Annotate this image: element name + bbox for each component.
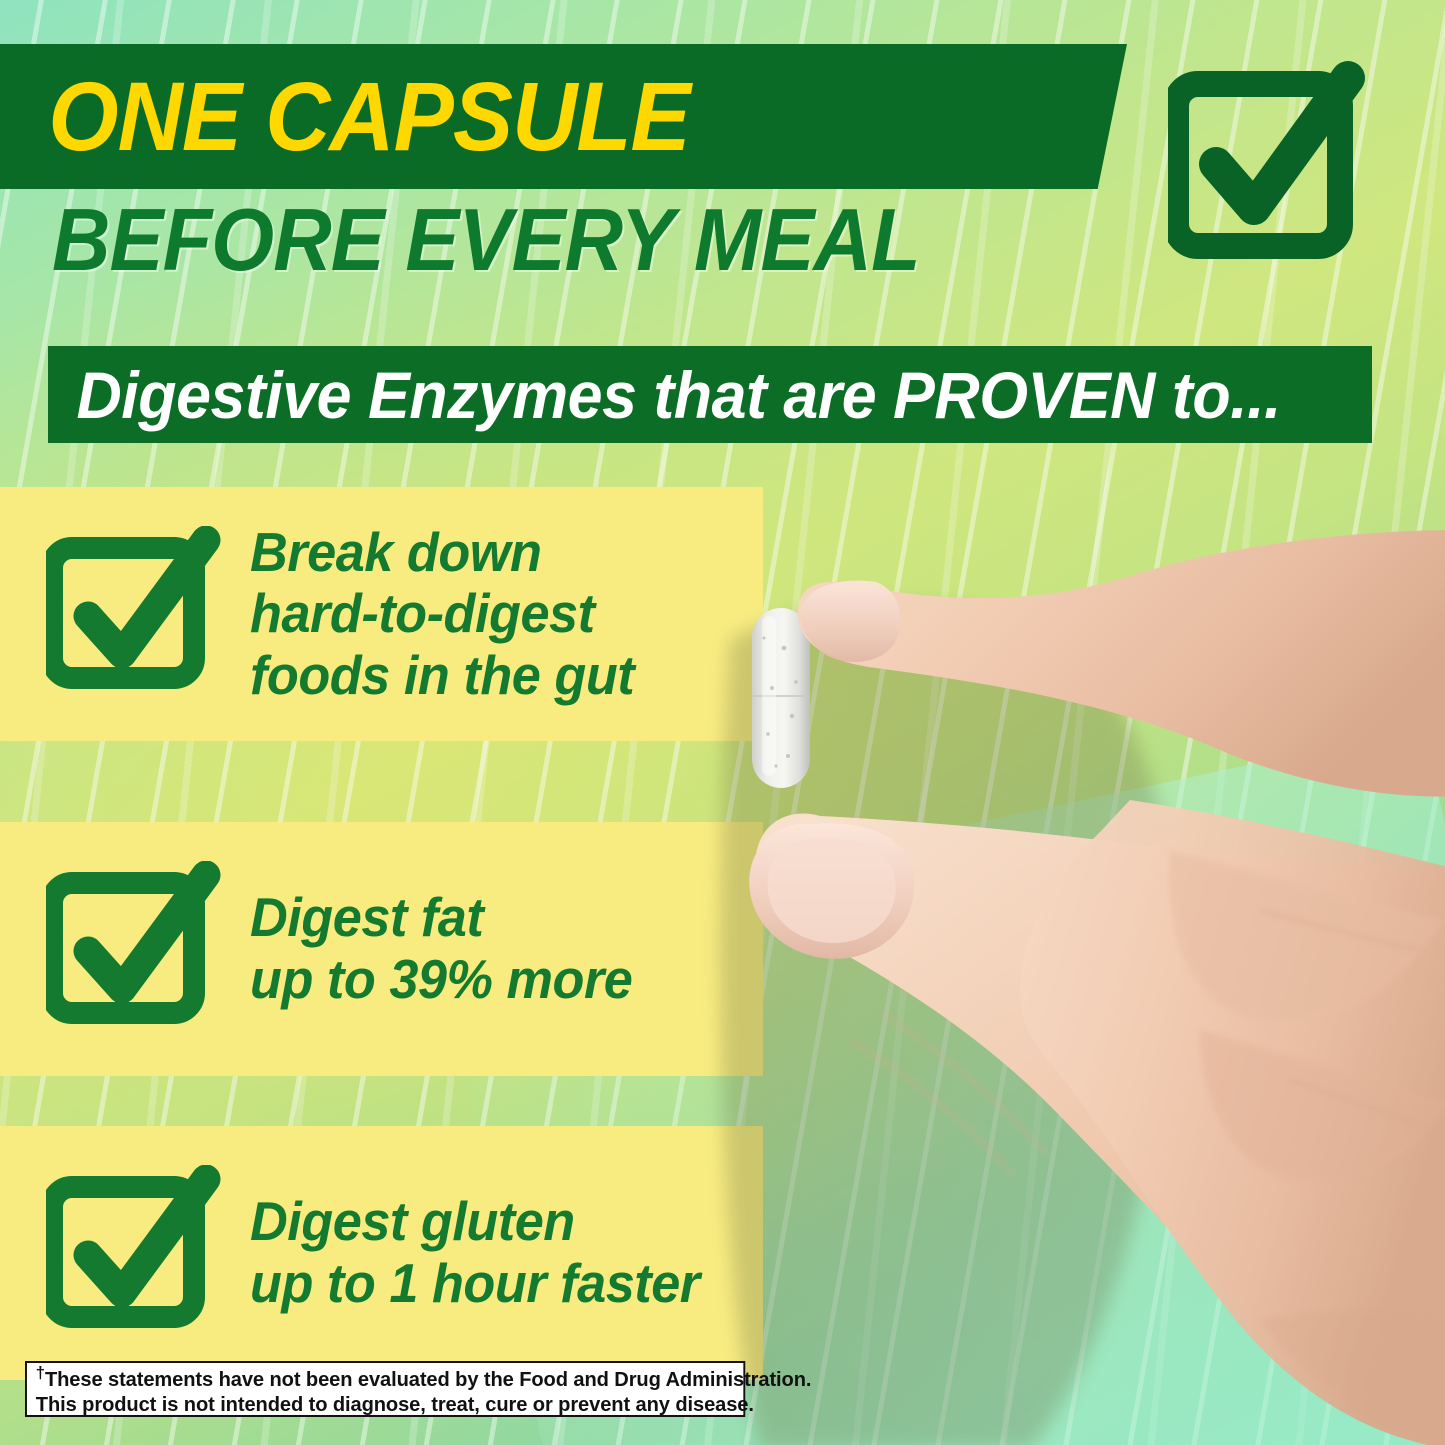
- benefit-panel: Break down hard-to-digest foods in the g…: [0, 487, 763, 741]
- disclaimer-line-1: †These statements have not been evaluate…: [36, 1367, 736, 1392]
- disclaimer-text-1: These statements have not been evaluated…: [45, 1368, 811, 1391]
- headline-band: ONE CAPSULE: [0, 44, 1127, 189]
- checkbox-check-icon: [46, 861, 228, 1037]
- checkbox-check-icon: [46, 526, 228, 702]
- checkbox-check-icon: [1168, 56, 1368, 266]
- benefit-text: Digest gluten up to 1 hour faster: [250, 1191, 700, 1314]
- benefit-text: Digest fat up to 39% more: [250, 887, 632, 1010]
- headline-secondary: BEFORE EVERY MEAL: [52, 196, 1064, 284]
- hand-holding-capsule-image: [700, 520, 1445, 1445]
- headline-primary: ONE CAPSULE: [0, 68, 690, 165]
- subtitle-text: Digestive Enzymes that are PROVEN to...: [48, 362, 1281, 428]
- benefit-panel: Digest fat up to 39% more: [0, 822, 763, 1076]
- dagger-symbol: †: [36, 1363, 45, 1382]
- benefit-panel: Digest gluten up to 1 hour faster: [0, 1126, 763, 1380]
- checkbox-check-icon: [46, 1165, 228, 1341]
- disclaimer-line-2: This product is not intended to diagnose…: [36, 1392, 736, 1417]
- fda-disclaimer: †These statements have not been evaluate…: [25, 1361, 745, 1417]
- promo-image-canvas: ONE CAPSULE BEFORE EVERY MEAL Digestive …: [0, 0, 1445, 1445]
- benefit-text: Break down hard-to-digest foods in the g…: [250, 522, 634, 707]
- subtitle-bar: Digestive Enzymes that are PROVEN to...: [48, 346, 1372, 443]
